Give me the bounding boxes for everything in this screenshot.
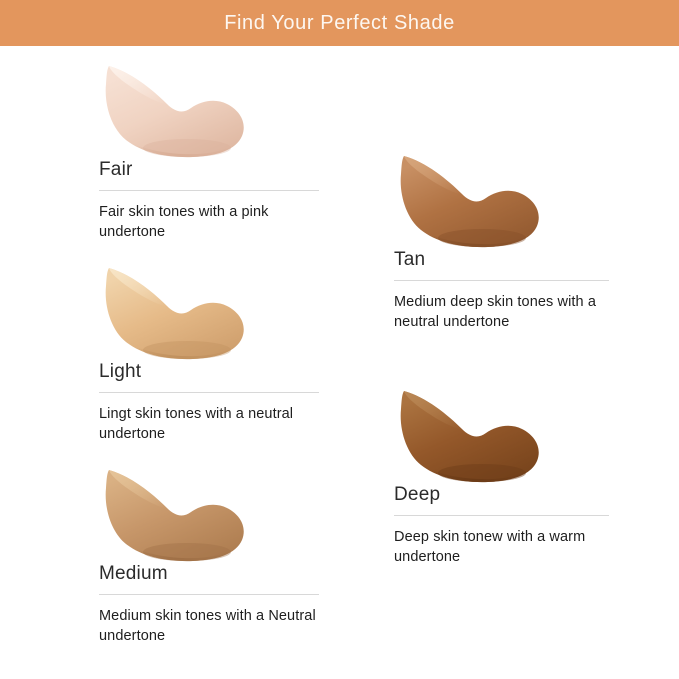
shade-description-tan: Medium deep skin tones with a neutral un… [394, 281, 609, 333]
shade-description-medium: Medium skin tones with a Neutral underto… [99, 595, 319, 647]
shade-card-light[interactable]: Light Lingt skin tones with a neutral un… [99, 262, 319, 445]
page-header-banner: Find Your Perfect Shade [0, 0, 679, 46]
shade-card-fair[interactable]: Fair Fair skin tones with a pink underto… [99, 60, 319, 243]
shade-name-light: Light [99, 362, 319, 392]
foundation-swatch-medium-icon [101, 464, 251, 564]
shade-description-fair: Fair skin tones with a pink undertone [99, 191, 319, 243]
shade-description-deep: Deep skin tonew with a warm undertone [394, 516, 609, 568]
shade-name-deep: Deep [394, 485, 609, 515]
foundation-swatch-deep-icon [396, 385, 546, 485]
page-title: Find Your Perfect Shade [224, 13, 455, 33]
shade-name-fair: Fair [99, 160, 319, 190]
shade-guide-board: Fair Fair skin tones with a pink underto… [0, 46, 679, 679]
shade-name-medium: Medium [99, 564, 319, 594]
foundation-swatch-light-icon [101, 262, 251, 362]
shade-card-tan[interactable]: Tan Medium deep skin tones with a neutra… [394, 150, 609, 333]
shade-card-medium[interactable]: Medium Medium skin tones with a Neutral … [99, 464, 319, 647]
shade-name-tan: Tan [394, 250, 609, 280]
shade-card-deep[interactable]: Deep Deep skin tonew with a warm underto… [394, 385, 609, 568]
foundation-swatch-fair-icon [101, 60, 251, 160]
shade-description-light: Lingt skin tones with a neutral underton… [99, 393, 319, 445]
foundation-swatch-tan-icon [396, 150, 546, 250]
